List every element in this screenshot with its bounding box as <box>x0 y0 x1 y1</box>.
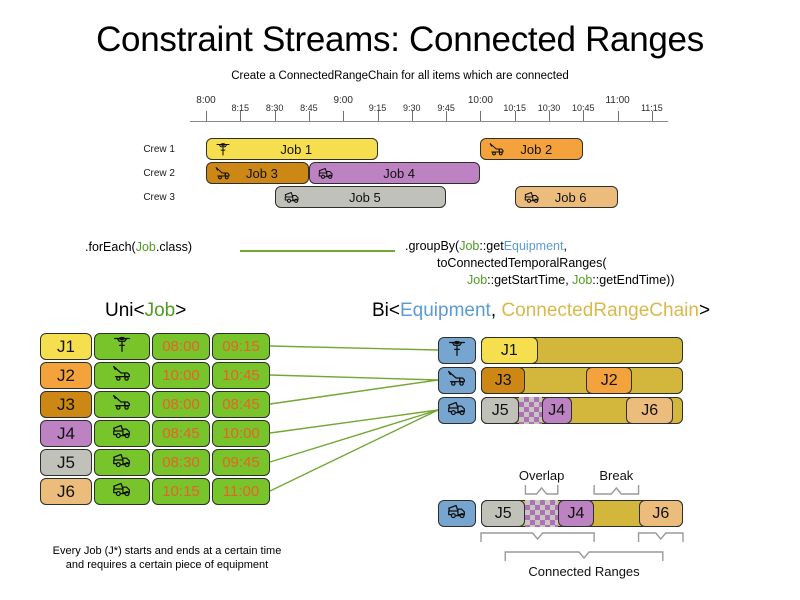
crew-label: Crew 2 <box>115 168 175 179</box>
timeline-tick-label: 9:45 <box>437 103 455 113</box>
job-id-cell: J1 <box>40 333 92 360</box>
job-equipment-cell <box>94 420 150 447</box>
chain-equipment-box[interactable] <box>438 337 476 364</box>
timeline-axis <box>190 121 668 122</box>
job-id-cell: J2 <box>40 362 92 389</box>
job-id-cell: J3 <box>40 391 92 418</box>
timeline-tick-label: 8:15 <box>232 103 250 113</box>
chain-segment[interactable]: J5 <box>481 397 519 424</box>
connector-line <box>270 380 438 404</box>
dump-truck-icon <box>446 500 468 527</box>
timeline-tick-label: 10:45 <box>572 103 595 113</box>
page-title: Constraint Streams: Connected Ranges <box>0 20 800 60</box>
dump-truck-icon <box>111 420 133 447</box>
auger-icon <box>210 140 236 158</box>
code-foreach-job: Job <box>136 240 156 254</box>
job-start-time-cell: 10:15 <box>152 478 210 505</box>
overlap-bracket <box>525 485 557 494</box>
job-start-time-cell: 08:45 <box>152 420 210 447</box>
connector-line <box>270 410 438 491</box>
auger-icon <box>446 337 468 364</box>
uni-header: Uni<Job> <box>105 300 186 322</box>
chain-equipment-box[interactable] <box>438 397 476 424</box>
code-foreach: .forEach(Job.class) <box>85 240 192 254</box>
timeline-tick <box>206 111 207 121</box>
job-end-time-cell: 10:45 <box>212 362 270 389</box>
gantt-bar[interactable]: Job 6 <box>515 186 618 208</box>
bi-header-post: > <box>699 300 710 321</box>
timeline-tick <box>618 111 619 121</box>
connector-line <box>270 410 438 433</box>
code-foreach-post: .class) <box>156 240 192 254</box>
dump-truck-icon <box>111 449 133 476</box>
crane-truck-icon <box>111 362 133 389</box>
footer-line-1: Every Job (J*) starts and ends at a cert… <box>12 544 322 558</box>
job-equipment-cell <box>94 362 150 389</box>
timeline-tick-label: 9:30 <box>403 103 421 113</box>
chain-segment[interactable]: J2 <box>586 367 632 394</box>
timeline-tick-label: 10:15 <box>503 103 526 113</box>
job-start-time-cell: 08:30 <box>152 449 210 476</box>
connected-ranges-label: Connected Ranges <box>528 564 639 579</box>
code-groupby-pre: .groupBy( <box>405 239 459 253</box>
job-equipment-cell <box>94 391 150 418</box>
code-connector-line <box>240 250 395 252</box>
chain-segment[interactable]: J3 <box>481 367 525 394</box>
gantt-bar[interactable]: Job 3 <box>206 162 309 184</box>
page-subtitle: Create a ConnectedRangeChain for all ite… <box>0 70 800 82</box>
uni-header-post: > <box>175 300 186 321</box>
range-b-bracket <box>639 533 683 542</box>
job-end-time-cell: 11:00 <box>212 478 270 505</box>
crew-label: Crew 1 <box>115 144 175 155</box>
range-a-bracket <box>481 533 594 542</box>
bi-header-chain: ConnectedRangeChain <box>501 300 699 321</box>
timeline-tick-label: 8:45 <box>300 103 318 113</box>
bi-header: Bi<Equipment, ConnectedRangeChain> <box>372 300 710 322</box>
connector-line <box>270 410 438 462</box>
gantt-bar-label: Job 3 <box>236 166 308 181</box>
timeline-tick-label: 10:00 <box>468 95 493 106</box>
crane-truck-icon <box>111 391 133 418</box>
gantt-bar-label: Job 6 <box>545 190 617 205</box>
bi-header-sep: , <box>491 300 502 321</box>
code-groupby-mid: ::get <box>479 239 503 253</box>
detail-chain-segment[interactable]: J6 <box>639 500 683 527</box>
crane-truck-icon <box>446 367 468 394</box>
gantt-bar-label: Job 1 <box>236 142 377 157</box>
job-equipment-cell <box>94 478 150 505</box>
job-end-time-cell: 10:00 <box>212 420 270 447</box>
bi-header-equipment: Equipment <box>400 300 491 321</box>
job-start-time-cell: 08:00 <box>152 391 210 418</box>
gantt-bar-label: Job 5 <box>305 190 446 205</box>
gantt-timeline: 8:008:158:308:459:009:159:309:4510:0010:… <box>0 95 800 215</box>
timeline-tick <box>343 111 344 121</box>
timeline-tick <box>480 111 481 121</box>
job-id-cell: J4 <box>40 420 92 447</box>
detail-chain-segment[interactable] <box>525 500 557 527</box>
code-groupby-job: Job <box>459 239 479 253</box>
timeline-tick-label: 9:15 <box>369 103 387 113</box>
connector-line <box>270 375 438 380</box>
footer-caption: Every Job (J*) starts and ends at a cert… <box>12 544 322 572</box>
timeline-tick-label: 8:00 <box>196 95 215 106</box>
chain-equipment-box[interactable] <box>438 367 476 394</box>
code-foreach-pre: .forEach( <box>85 240 136 254</box>
break-bracket <box>594 485 638 494</box>
crane-truck-icon <box>210 164 236 182</box>
overlap-label: Overlap <box>519 468 565 483</box>
job-start-time-cell: 10:00 <box>152 362 210 389</box>
gantt-bar-label: Job 2 <box>510 142 582 157</box>
chain-segment[interactable]: J4 <box>542 397 572 424</box>
dump-truck-icon <box>519 188 545 206</box>
detail-chain-segment[interactable]: J4 <box>558 500 594 527</box>
timeline-tick-label: 11:00 <box>605 95 629 106</box>
auger-icon <box>111 333 133 360</box>
job-start-time-cell: 08:00 <box>152 333 210 360</box>
code-groupby-line3: Job::getStartTime, Job::getEndTime)) <box>405 272 675 289</box>
code-job-end: Job <box>572 273 592 287</box>
gantt-bar[interactable]: Job 4 <box>309 162 481 184</box>
gantt-bar[interactable]: Job 2 <box>480 138 583 160</box>
timeline-tick-label: 8:30 <box>266 103 284 113</box>
job-end-time-cell: 09:15 <box>212 333 270 360</box>
code-groupby-comma: , <box>563 239 566 253</box>
code-groupby-line1: .groupBy(Job::getEquipment, <box>405 238 675 255</box>
code-groupby-equipment: Equipment <box>504 239 564 253</box>
footer-line-2: and requires a certain piece of equipmen… <box>12 558 322 572</box>
dump-truck-icon <box>446 397 468 424</box>
dump-truck-icon <box>313 164 339 182</box>
connector-line <box>270 346 438 350</box>
uni-header-pre: Uni< <box>105 300 145 321</box>
code-end-time: ::getEndTime)) <box>592 273 674 287</box>
code-groupby-line2: toConnectedTemporalRanges( <box>405 255 675 272</box>
code-start-time: ::getStartTime, <box>487 273 572 287</box>
job-end-time-cell: 08:45 <box>212 391 270 418</box>
chain-segment[interactable]: J1 <box>481 337 538 364</box>
timeline-tick-label: 11:15 <box>641 103 663 113</box>
code-groupby: .groupBy(Job::getEquipment, toConnectedT… <box>405 238 675 289</box>
timeline-tick-label: 9:00 <box>333 95 352 106</box>
gantt-bar[interactable]: Job 1 <box>206 138 378 160</box>
job-id-cell: J5 <box>40 449 92 476</box>
bi-header-pre: Bi< <box>372 300 400 321</box>
timeline-tick-label: 10:30 <box>538 103 561 113</box>
uni-header-job: Job <box>145 300 176 321</box>
dump-truck-icon <box>279 188 305 206</box>
break-label: Break <box>599 468 633 483</box>
code-job-start: Job <box>467 273 487 287</box>
job-id-cell: J6 <box>40 478 92 505</box>
chain-segment[interactable] <box>519 397 541 424</box>
crew-label: Crew 3 <box>115 192 175 203</box>
chain-segment[interactable]: J6 <box>626 397 672 424</box>
dump-truck-icon <box>111 478 133 505</box>
detail-chain-segment[interactable]: J5 <box>481 500 525 527</box>
job-equipment-cell <box>94 333 150 360</box>
connected-ranges-bracket <box>505 552 663 561</box>
job-equipment-cell <box>94 449 150 476</box>
detail-equipment-box[interactable] <box>438 500 476 527</box>
gantt-bar-label: Job 4 <box>339 166 480 181</box>
crane-truck-icon <box>484 140 510 158</box>
job-end-time-cell: 09:45 <box>212 449 270 476</box>
gantt-bar[interactable]: Job 5 <box>275 186 447 208</box>
